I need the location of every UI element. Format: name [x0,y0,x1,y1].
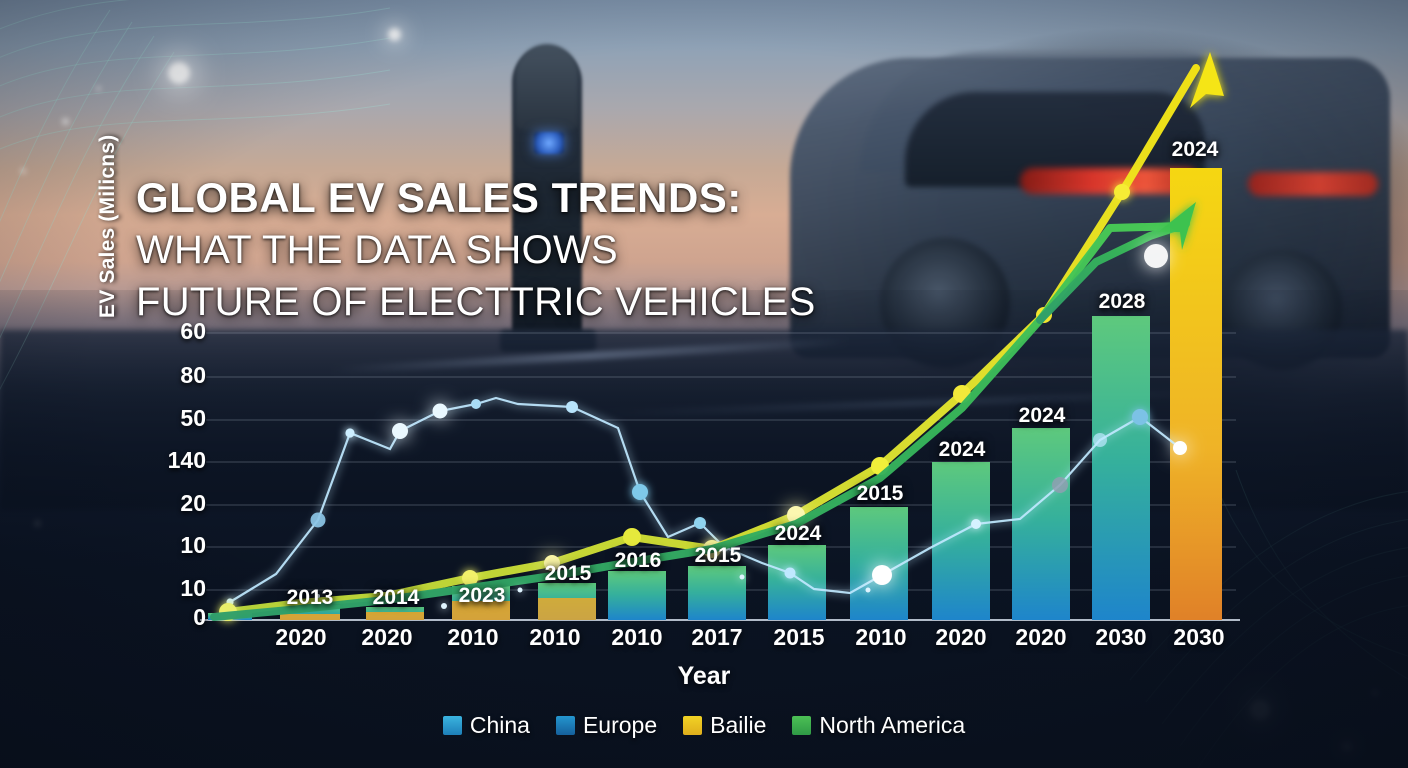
x-tick: 2010 [594,624,680,651]
bar-label: 2014 [354,586,438,610]
bar-label: 2013 [268,586,352,610]
x-tick: 2010 [512,624,598,651]
legend-swatch-europe [556,716,575,735]
y-tick: 10 [180,532,206,559]
y-tick: 50 [180,405,206,432]
bar-label: 2028 [1080,290,1164,314]
y-axis-ticks: 60 80 50 140 20 10 10 0 [120,0,206,768]
bar[interactable] [1012,428,1070,620]
arrow-callout-label: 2024 [1152,138,1238,162]
y-axis-label: EV Sales (Milicns) [96,18,120,318]
bar-label: 2015 [838,482,922,506]
legend-swatch-bailie [683,716,702,735]
x-tick: 2020 [344,624,430,651]
north-america-glow-node [1144,244,1168,268]
legend-item-north-america[interactable]: North America [792,712,965,739]
legend-item-bailie[interactable]: Bailie [683,712,766,739]
x-axis-label: Year [0,662,1408,691]
y-tick: 20 [180,490,206,517]
bar-label: 2024 [1000,404,1084,428]
x-tick: 2017 [674,624,760,651]
legend-label: China [470,712,530,739]
bar-label: 2023 [440,584,524,608]
bailie-arrowhead [1190,52,1224,108]
bar[interactable] [932,462,990,620]
legend-swatch-china [443,716,462,735]
bar[interactable] [608,571,666,620]
y-tick: 140 [168,447,206,474]
x-tick: 2030 [1156,624,1242,651]
y-tick: 0 [193,604,206,631]
x-tick: 2020 [918,624,1004,651]
bar[interactable] [688,566,746,620]
legend-label: North America [819,712,965,739]
x-tick: 2010 [838,624,924,651]
legend-label: Bailie [710,712,766,739]
x-tick: 2015 [756,624,842,651]
x-tick: 2020 [258,624,344,651]
bar-label: 2024 [920,438,1004,462]
ev-sales-chart [0,0,1408,768]
legend-swatch-north-america [792,716,811,735]
y-tick: 10 [180,575,206,602]
y-tick: 60 [180,318,206,345]
x-tick: 2030 [1078,624,1164,651]
bar-label: 2024 [756,522,840,546]
y-tick: 80 [180,362,206,389]
legend-item-china[interactable]: China [443,712,530,739]
bar-label: 2015 [676,544,760,568]
bar-last[interactable] [1170,168,1222,620]
x-tick: 2010 [430,624,516,651]
bar-label: 2016 [596,549,680,573]
infographic-canvas: GLOBAL EV SALES TRENDS: WHAT THE DATA SH… [0,0,1408,768]
bar[interactable] [850,507,908,620]
bar[interactable] [1092,316,1150,620]
legend-label: Europe [583,712,657,739]
bar[interactable] [768,545,826,620]
chart-legend: China Europe Bailie North America [0,712,1408,739]
legend-item-europe[interactable]: Europe [556,712,657,739]
x-tick: 2020 [998,624,1084,651]
